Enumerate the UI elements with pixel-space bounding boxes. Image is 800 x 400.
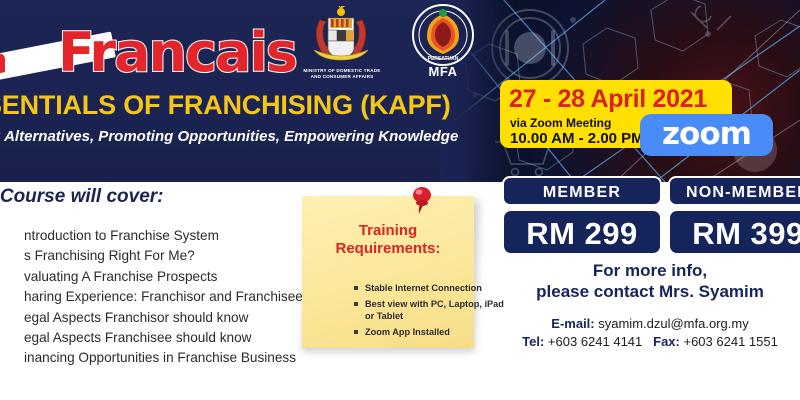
fax-value: +603 6241 1551 (683, 334, 777, 349)
contact-email-row: E-mail: syamim.dzul@mfa.org.my (500, 316, 800, 331)
logo-wordmark-text: Francais (58, 26, 296, 80)
list-item: ntroduction to Franchise System (24, 226, 344, 246)
list-item: egal Aspects Franchisee should know (24, 328, 344, 348)
svg-text:PERSATUAN: PERSATUAN (428, 56, 459, 62)
price-label-non-member: NON-MEMBER (668, 176, 800, 206)
list-item: Best view with PC, Laptop, iPad or Table… (352, 298, 510, 322)
requirements-list: Stable Internet Connection Best view wit… (312, 282, 510, 342)
tel-value[interactable]: +603 6241 4141 (548, 334, 642, 349)
zoom-logo-icon: zoom (640, 114, 773, 156)
price-value-non-member: RM 399 (668, 209, 800, 255)
promo-flyer: om Francais MINISTRY OF DOMESTIC TRADE A… (0, 0, 800, 400)
email-value[interactable]: syamim.dzul@mfa.org.my (598, 316, 748, 331)
course-list: ntroduction to Franchise System s Franch… (0, 226, 344, 369)
zoom-logo-text: zoom (640, 114, 773, 156)
ministry-caption: MINISTRY OF DOMESTIC TRADE AND CONSUMER … (300, 68, 384, 80)
list-item: valuating A Franchise Prospects (24, 267, 344, 287)
contact-heading: For more info, please contact Mrs. Syami… (500, 260, 800, 302)
contact-phone-row: Tel: +603 6241 4141 Fax: +603 6241 1551 (500, 334, 800, 349)
list-item: inancing Opportunities in Franchise Busi… (24, 348, 344, 368)
event-time: 10.00 AM - 2.00 PM (510, 130, 644, 147)
event-dates: 27 - 28 April 2021 (509, 85, 707, 114)
requirements-title: Training Requirements: (302, 222, 474, 258)
price-value-member: RM 299 (502, 209, 662, 255)
tel-label: Tel: (522, 334, 544, 349)
pricing-non-member: NON-MEMBER RM 399 (668, 176, 800, 255)
list-item: egal Aspects Franchisor should know (24, 308, 344, 328)
list-item: Zoom App Installed (352, 326, 510, 338)
requirements-title-line1: Training (359, 222, 417, 239)
page-subtitle: ing Alternatives, Promoting Opportunitie… (0, 128, 498, 145)
list-item: haring Experience: Franchisor and Franch… (24, 287, 344, 307)
requirements-title-line2: Requirements: (335, 240, 440, 257)
list-item: Stable Internet Connection (352, 282, 510, 294)
price-label-member: MEMBER (502, 176, 662, 206)
page-title: SENTIALS OF FRANCHISING (KAPF) (0, 90, 504, 121)
pushpin-icon (409, 186, 435, 216)
fax-label: Fax: (653, 334, 680, 349)
event-platform: via Zoom Meeting (510, 116, 611, 130)
email-label: E-mail: (551, 316, 594, 331)
list-item: s Franchising Right For Me? (24, 246, 344, 266)
mfa-logo-icon: PERSATUAN (412, 4, 474, 66)
francais-logo: om Francais (0, 18, 290, 78)
mfa-abbrev-label: MFA (405, 64, 481, 79)
training-requirements-note: Training Requirements: Stable Internet C… (302, 196, 474, 348)
contact-heading-line2: please contact Mrs. Syamim (536, 282, 764, 301)
contact-heading-line1: For more info, (593, 261, 707, 280)
pricing-member: MEMBER RM 299 (502, 176, 662, 255)
course-list-heading: e Course will cover: (0, 186, 164, 208)
header-banner: om Francais MINISTRY OF DOMESTIC TRADE A… (0, 0, 800, 182)
malaysia-coat-of-arms-icon (306, 6, 376, 68)
